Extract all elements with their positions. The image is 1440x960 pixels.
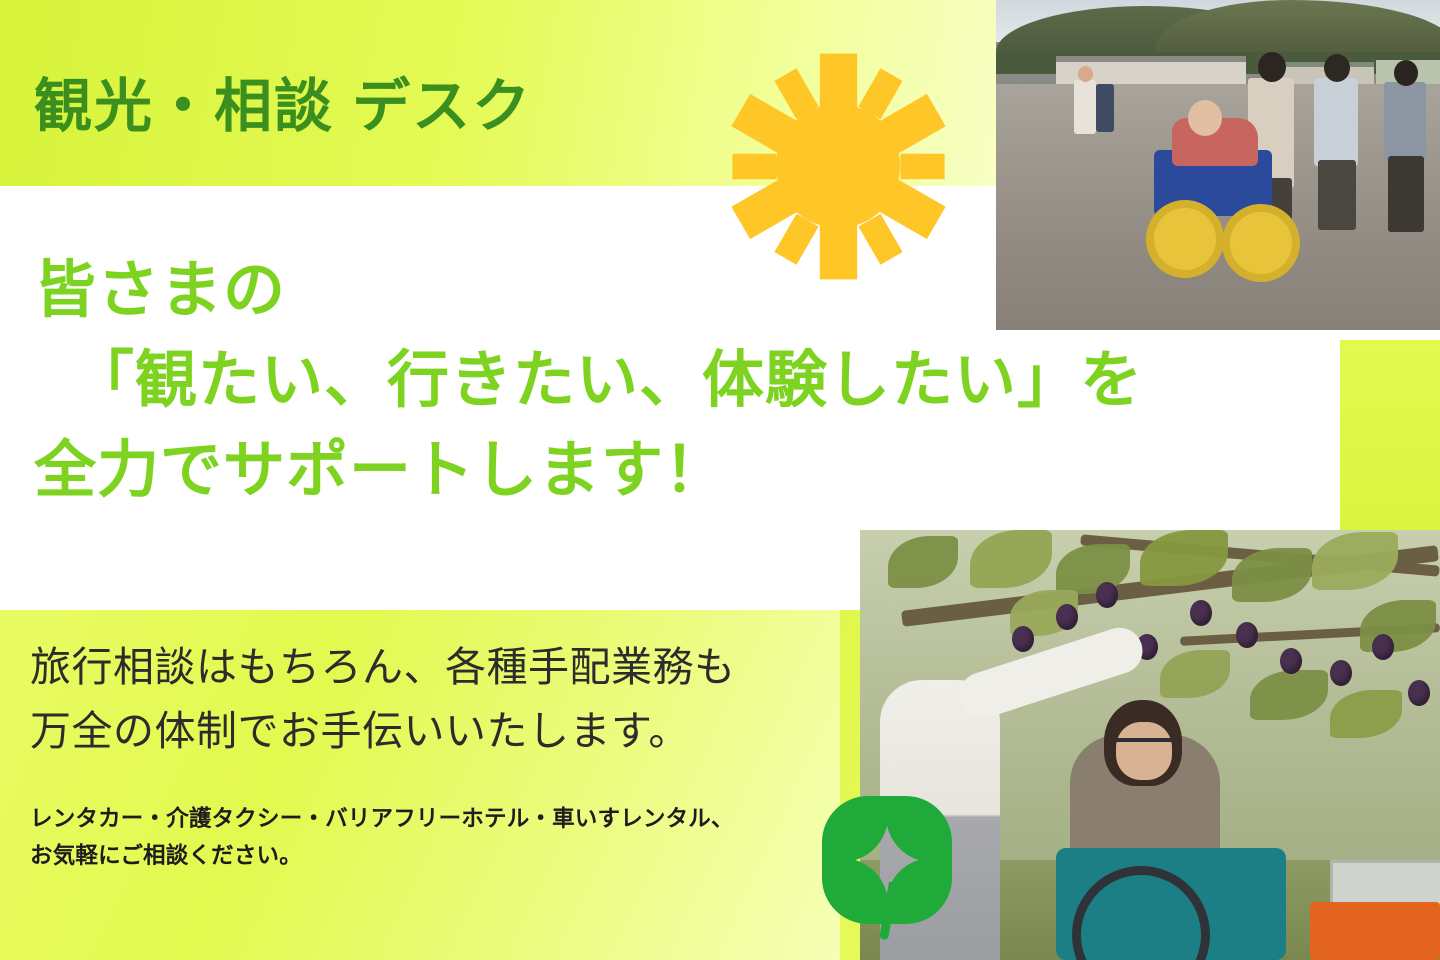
photo-walker-4 xyxy=(1384,82,1426,162)
clover-leaf-top-right xyxy=(886,796,952,862)
photo-pusher-head xyxy=(1258,52,1286,82)
subtext-block: 旅行相談はもちろん、各種手配業務も 万全の体制でお手伝いいたします。 xyxy=(30,636,870,763)
subtext-line-2: 万全の体制でお手伝いいたします。 xyxy=(30,700,870,764)
headline-line-2: 「観たい、行きたい、体験したい」を xyxy=(34,336,1334,426)
orchard-fruit xyxy=(1190,600,1212,626)
orchard-fruit xyxy=(1372,634,1394,660)
orchard-fruit xyxy=(1096,582,1118,608)
note-block: レンタカー・介護タクシー・バリアフリーホテル・車いすレンタル、 お気軽にご相談く… xyxy=(30,800,860,874)
beach-wheelchair-photo xyxy=(996,0,1440,330)
orchard-fruit xyxy=(1012,626,1034,652)
note-line-1: レンタカー・介護タクシー・バリアフリーホテル・車いすレンタル、 xyxy=(30,800,860,837)
photo-walker-2 xyxy=(1096,84,1114,132)
orchard-fruit xyxy=(1056,604,1078,630)
sun-ray xyxy=(820,54,857,112)
orchard-cart xyxy=(1310,902,1440,960)
photo-walker-4-head xyxy=(1394,60,1418,86)
photo-walker-4-legs xyxy=(1388,156,1424,232)
clover-leaf-bottom-left xyxy=(822,858,888,924)
photo-walker-3-head xyxy=(1324,54,1350,82)
orchard-fruit xyxy=(1236,622,1258,648)
page-title: 観光・相談 デスク xyxy=(34,78,532,136)
four-leaf-clover-icon xyxy=(818,790,958,940)
photo-wheel-right xyxy=(1222,204,1300,282)
photo-walker-1-head xyxy=(1078,66,1093,82)
clover-leaf-top-left xyxy=(822,796,888,862)
sun-ray xyxy=(732,154,776,180)
photo-wheel-left xyxy=(1146,200,1224,278)
poster-root: 観光・相談 デスク 皆さまの 「観たい、行きたい、体験したい」を 全力でサポート… xyxy=(0,0,1440,960)
orchard-fruit xyxy=(1408,680,1430,706)
sun-ray xyxy=(900,154,944,180)
orchard-fruit xyxy=(1280,648,1302,674)
photo-walker-3-legs xyxy=(1318,160,1356,230)
photo-walker-1 xyxy=(1074,80,1096,134)
photo-walker-3 xyxy=(1314,78,1358,166)
photo-seated-person-head xyxy=(1188,100,1222,136)
subtext-line-1: 旅行相談はもちろん、各種手配業務も xyxy=(30,636,870,700)
note-line-2: お気軽にご相談ください。 xyxy=(30,837,860,874)
glasses-icon xyxy=(1116,738,1174,754)
orchard-fruit xyxy=(1330,660,1352,686)
headline-line-3: 全力でサポートします！ xyxy=(34,426,1334,516)
